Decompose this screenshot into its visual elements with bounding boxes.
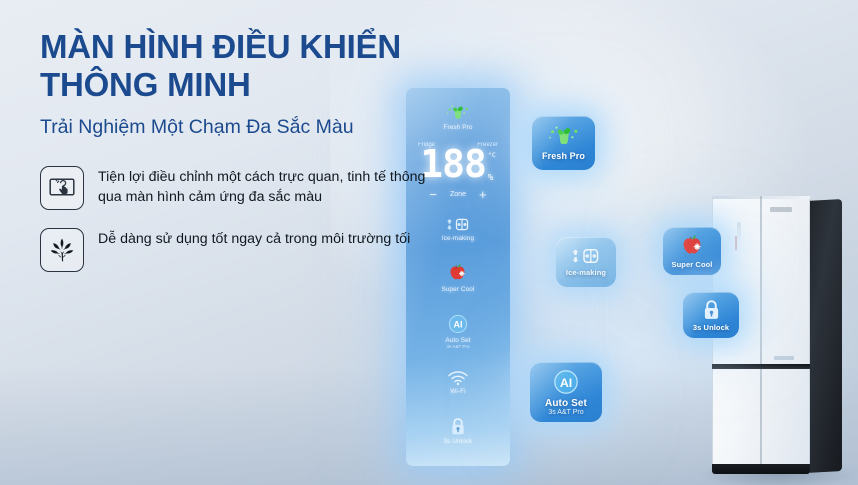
fridge-lower-door-seam	[760, 369, 762, 464]
callout-label: Ice-making	[566, 268, 606, 277]
callout-card-super-cool[interactable]: Super Cool	[663, 227, 721, 275]
panel-item-super-cool[interactable]: Super Cool	[442, 263, 475, 293]
callout-label: Auto Set	[545, 398, 587, 409]
feature-text: Tiện lợi điều chỉnh một cách trực quan, …	[98, 166, 440, 207]
unit-percent: %	[488, 174, 493, 183]
panel-item-ice-making[interactable]: Ice-making	[442, 217, 474, 242]
unit-celsius: °C	[488, 152, 496, 159]
panel-label-wifi: Wi-Fi	[450, 388, 465, 395]
svg-text:AI: AI	[560, 375, 572, 389]
apple-icon	[679, 234, 705, 258]
panel-label-auto-set: Auto Set	[445, 337, 470, 344]
zone-plus-button[interactable]: +	[479, 188, 487, 201]
touchscreen-icon	[40, 166, 84, 210]
callout-label: Super Cool	[671, 260, 712, 269]
panel-item-wifi[interactable]: Wi-Fi	[447, 371, 469, 396]
panel-label-ice-making: Ice-making	[442, 235, 474, 242]
display-units: °C %	[488, 149, 496, 183]
title-line-1: MÀN HÌNH ĐIỀU KHIỂN	[40, 28, 401, 65]
panel-item-3s-unlock[interactable]: 3s Unlock	[444, 417, 473, 446]
lock-icon	[450, 417, 466, 436]
feature-list: Tiện lợi điều chỉnh một cách trực quan, …	[40, 166, 440, 272]
ai-icon: AI	[448, 314, 468, 334]
fridge-upper-door-seam	[760, 196, 762, 364]
title-line-2: THÔNG MINH	[40, 66, 440, 104]
panel-label-3s-unlock: 3s Unlock	[444, 438, 473, 445]
fridge-brand-logo	[770, 207, 792, 212]
panel-item-auto-set[interactable]: AI Auto Set 3s A&T Pro	[445, 314, 470, 349]
ice-making-icon	[568, 247, 604, 265]
fridge-base	[712, 464, 810, 474]
callout-label: Fresh Pro	[542, 151, 585, 161]
feature-item-touchscreen: Tiện lợi điều chỉnh một cách trực quan, …	[40, 166, 440, 210]
page-title: MÀN HÌNH ĐIỀU KHIỂN THÔNG MINH	[40, 28, 440, 103]
ice-making-icon	[443, 217, 473, 232]
fridge-handle	[735, 236, 737, 250]
fridge-display-strip	[737, 222, 741, 244]
lock-icon	[702, 299, 721, 321]
apple-icon	[447, 263, 468, 283]
leaf-glass-icon	[445, 104, 471, 121]
zone-label: Zone	[450, 191, 466, 198]
leaf-icon	[40, 228, 84, 272]
callout-label: 3s Unlock	[693, 323, 729, 332]
callout-card-auto-set[interactable]: AI Auto Set 3s A&T Pro	[530, 362, 602, 422]
callout-card-3s-unlock[interactable]: 3s Unlock	[683, 292, 739, 338]
ai-icon: AI	[553, 369, 579, 395]
svg-text:AI: AI	[453, 320, 462, 330]
panel-sublabel-auto-set: 3s A&T Pro	[446, 344, 469, 349]
freezer-label: Freezer	[477, 142, 498, 148]
panel-label-fresh-pro: Fresh Pro	[444, 124, 473, 131]
feature-text: Dễ dàng sử dụng tốt ngay cả trong môi tr…	[98, 228, 410, 249]
fridge-badge	[774, 356, 794, 360]
page-subtitle: Trải Nghiệm Một Chạm Đa Sắc Màu	[40, 116, 440, 139]
callout-card-fresh-pro[interactable]: Fresh Pro	[532, 116, 595, 170]
fridge-side-panel	[806, 199, 842, 473]
panel-item-fresh-pro[interactable]: Fresh Pro	[444, 104, 473, 131]
wifi-icon	[447, 371, 469, 386]
leaf-glass-icon	[547, 125, 581, 147]
callout-sublabel: 3s A&T Pro	[548, 409, 583, 416]
panel-label-super-cool: Super Cool	[442, 286, 475, 293]
hero-copy: MÀN HÌNH ĐIỀU KHIỂN THÔNG MINH Trải Nghi…	[40, 28, 440, 290]
feature-item-dark-mode: Dễ dàng sử dụng tốt ngay cả trong môi tr…	[40, 228, 440, 272]
callout-card-ice-making[interactable]: Ice-making	[556, 237, 616, 287]
